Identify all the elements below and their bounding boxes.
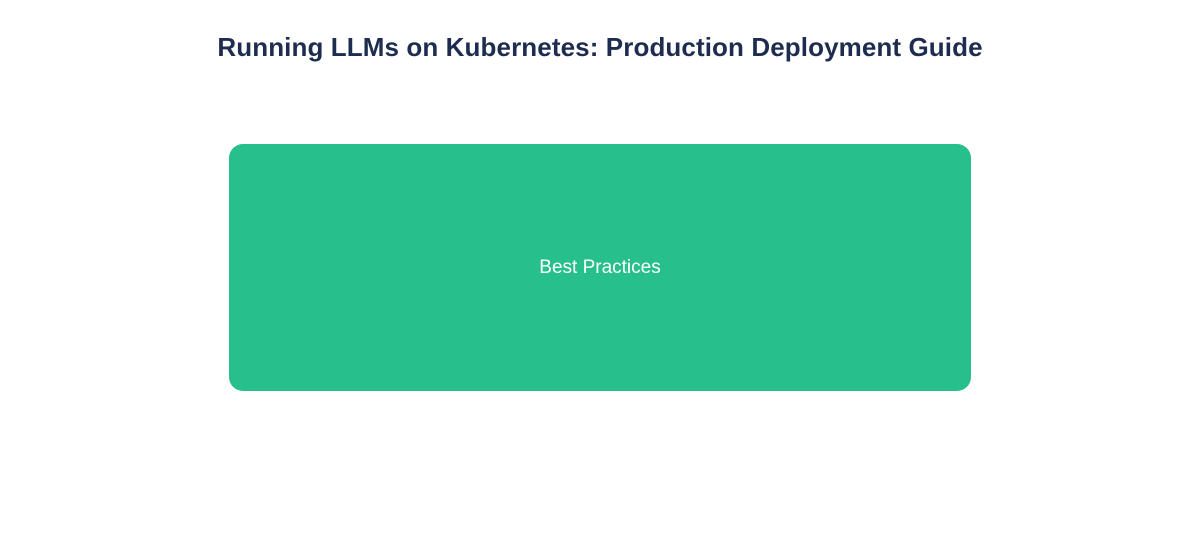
best-practices-card-label: Best Practices: [539, 256, 660, 280]
page-title: Running LLMs on Kubernetes: Production D…: [0, 30, 1200, 64]
content-area: Best Practices: [229, 144, 971, 391]
best-practices-card[interactable]: Best Practices: [229, 144, 971, 391]
slide-page: Running LLMs on Kubernetes: Production D…: [0, 0, 1200, 536]
